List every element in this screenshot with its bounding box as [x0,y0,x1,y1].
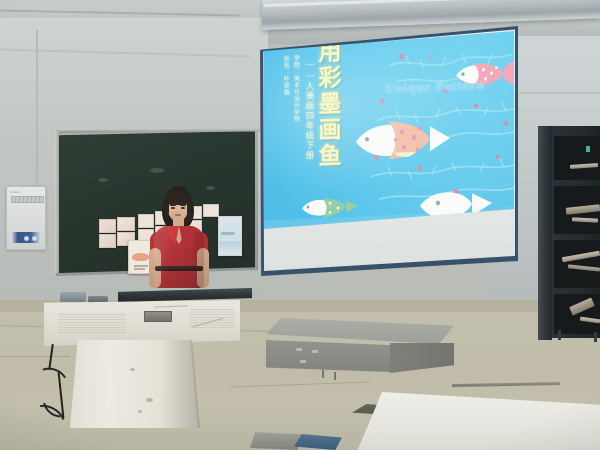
box-latch [300,360,306,363]
podium-nameplate [144,311,172,322]
podium-scuff [130,368,135,371]
eyebrow-left [170,204,176,206]
painting-hill [221,232,235,235]
painting-water [219,241,241,255]
podium-scuff [146,398,153,402]
chalk-smudge [98,178,108,182]
podium-equipment[interactable] [60,292,86,302]
slide-credit-line: 姓名：叶思霜 [280,55,290,123]
shelf-bay [554,294,600,334]
panel-indicator [32,236,37,241]
podium-scuff [138,410,142,413]
wall-seam [36,30,38,200]
artwork-card [99,234,116,248]
artwork-card [117,217,135,231]
slide-title: 用彩墨画鱼 [316,38,339,169]
slide-credits: 学院：美术与设计学院 姓名：叶思霜 [280,55,300,123]
box-latch [312,350,318,353]
box-leg [322,370,324,378]
panel-switch[interactable] [39,196,44,203]
podium-scratch [154,305,188,307]
landscape-painting-card [218,216,242,256]
podium-vent-left [58,314,126,334]
shelf-leg [594,332,597,342]
shelf-leg [558,330,561,340]
shelf-bay [554,136,600,180]
hair-side-left [163,196,169,218]
shelf-front-post [538,126,552,340]
slide-canvas: 用彩墨画鱼 ——人美版四年级下册 学院：美术与设计学院 姓名：叶思霜 Uniqu… [262,29,514,229]
classroom-photo: 用彩墨画鱼 ——人美版四年级下册 学院：美术与设计学院 姓名：叶思霜 Uniqu… [0,0,600,450]
artwork-card [99,219,116,233]
slide-subtitle: ——人美版四年级下册 [304,58,316,160]
panel-label: Control [10,190,20,194]
slide-credit-line: 学院：美术与设计学院 [290,55,300,123]
hair-side-right [187,196,193,220]
shelf-bay [554,240,600,288]
shelf-green-item [586,146,590,152]
mouth [175,214,181,216]
box-leg [334,372,336,380]
box-latch [296,348,302,351]
panel-indicator [24,236,29,241]
eyebrow-right [180,204,186,206]
metal-equipment-box-front [266,340,390,372]
projected-slide: 用彩墨画鱼 ——人美版四年级下册 学院：美术与设计学院 姓名：叶思霜 Uniqu… [262,29,514,229]
floor-grey-object [250,432,302,450]
dress-shading [154,226,204,288]
floor-seam [0,356,70,357]
chalk-smudge [150,168,164,173]
podium-body [44,300,240,346]
wall-control-panel[interactable]: Control [6,186,46,250]
blackboard-left-edge [55,131,59,273]
